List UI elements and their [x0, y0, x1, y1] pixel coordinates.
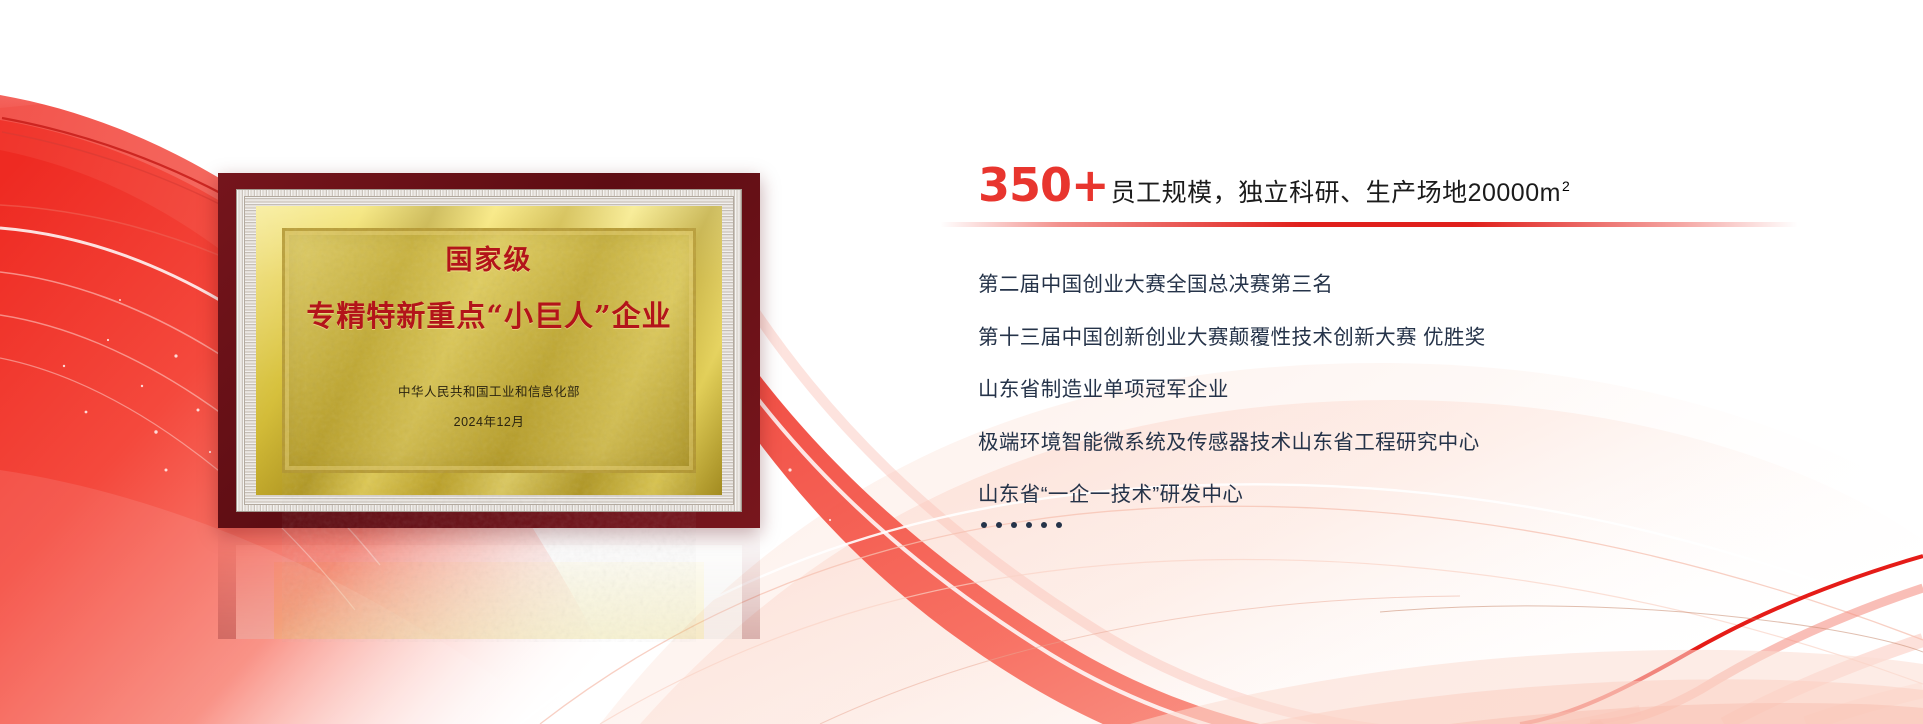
award-list: 第二届中国创业大赛全国总决赛第三名 第十三届中国创新创业大赛颠覆性技术创新大赛 …	[978, 275, 1808, 506]
list-item: 山东省制造业单项冠军企业	[978, 380, 1808, 401]
plaque-issuer: 中华人民共和国工业和信息化部	[398, 381, 580, 400]
content-column: 350+ 员工规模，独立科研、生产场地20000m 2 第二届中国创业大赛全国总…	[978, 162, 1808, 528]
dot-icon	[981, 522, 987, 528]
headline: 350+ 员工规模，独立科研、生产场地20000m 2	[978, 162, 1808, 208]
plaque-gold-surface: 国家级 专精特新重点“小巨人”企业 中华人民共和国工业和信息化部 2024年12…	[256, 206, 722, 495]
dot-icon	[1056, 522, 1062, 528]
dot-icon	[1011, 522, 1017, 528]
headline-superscript: 2	[1562, 178, 1570, 194]
headline-divider-rule	[940, 222, 1798, 227]
headline-stat-number: 350+	[978, 162, 1109, 208]
dot-icon	[996, 522, 1002, 528]
headline-stat-text: 员工规模，独立科研、生产场地20000m	[1111, 181, 1561, 206]
list-item: 第二届中国创业大赛全国总决赛第三名	[978, 275, 1808, 296]
list-item: 山东省“一企一技术”研发中心	[978, 485, 1808, 506]
award-banner: 国家级 专精特新重点“小巨人”企业 中华人民共和国工业和信息化部 2024年12…	[0, 0, 1923, 724]
plaque-text-block: 国家级 专精特新重点“小巨人”企业 中华人民共和国工业和信息化部 2024年12…	[256, 206, 722, 495]
ellipsis-dots	[981, 522, 1808, 528]
list-item: 第十三届中国创新创业大赛颠覆性技术创新大赛 优胜奖	[978, 328, 1808, 349]
plaque-title-line-1: 国家级	[446, 238, 533, 277]
dot-icon	[1026, 522, 1032, 528]
award-plaque: 国家级 专精特新重点“小巨人”企业 中华人民共和国工业和信息化部 2024年12…	[218, 173, 760, 528]
list-item: 极端环境智能微系统及传感器技术山东省工程研究中心	[978, 433, 1808, 454]
plaque-date: 2024年12月	[454, 411, 525, 430]
plaque-title-line-2: 专精特新重点“小巨人”企业	[306, 293, 671, 335]
dot-icon	[1041, 522, 1047, 528]
plaque-outer-frame: 国家级 专精特新重点“小巨人”企业 中华人民共和国工业和信息化部 2024年12…	[218, 173, 760, 528]
